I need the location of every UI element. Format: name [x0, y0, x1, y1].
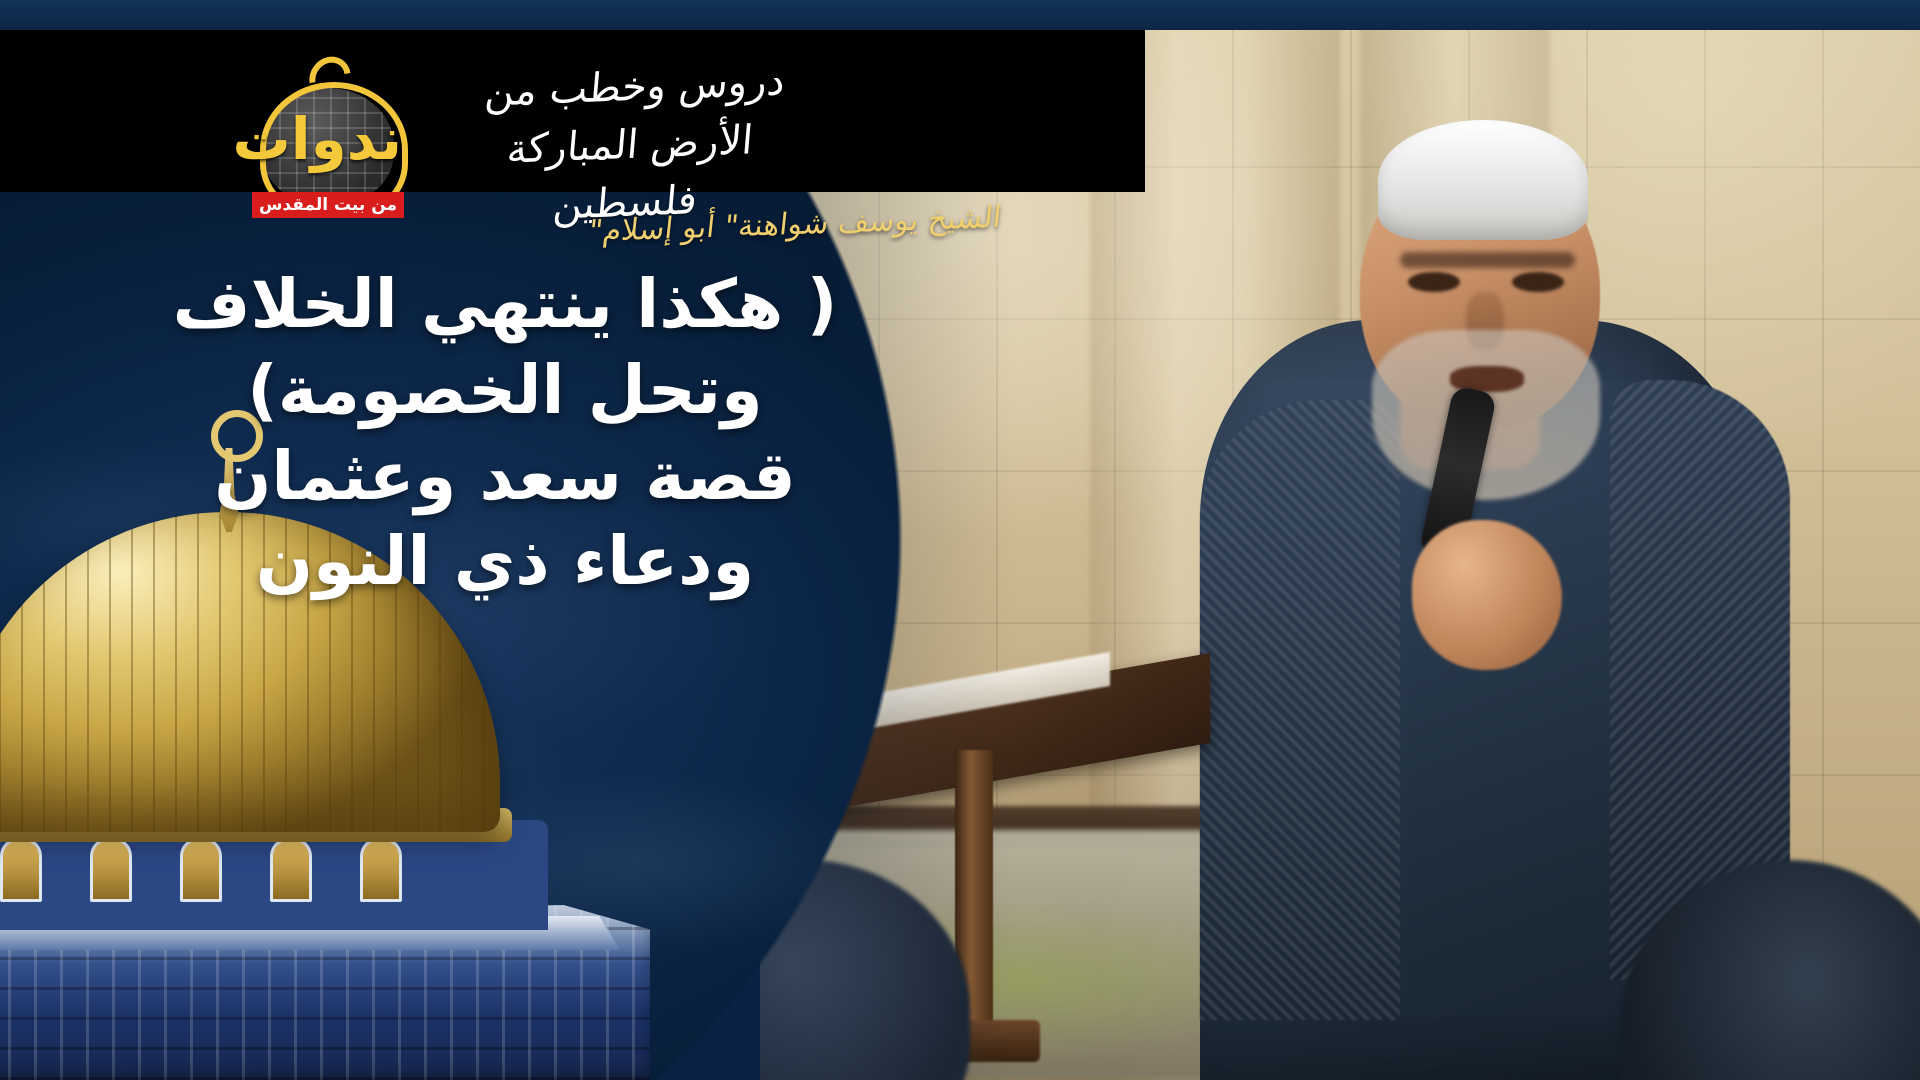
dome-window — [360, 838, 402, 902]
title-line-3: قصة سعد وعثمان — [110, 434, 900, 520]
dome-window — [270, 838, 312, 902]
title-line-1: ( هكذا ينتهي الخلاف — [110, 262, 900, 348]
channel-logo: ندوات من بيت المقدس — [248, 52, 408, 202]
lecture-title: ( هكذا ينتهي الخلاف وتحل الخصومة) قصة سع… — [110, 262, 900, 605]
logo-wordmark: ندوات — [256, 110, 402, 168]
channel-header-bar: ندوات من بيت المقدس دروس وخطب من الأرض ا… — [0, 30, 1145, 192]
speaker-brow — [1400, 252, 1575, 268]
speaker-eye-left — [1408, 272, 1460, 292]
top-navy-strip — [0, 0, 1920, 30]
dome-of-the-rock — [0, 560, 690, 1080]
dome-window — [0, 838, 42, 902]
title-line-4: ودعاء ذي النون — [110, 519, 900, 605]
thumbnail-canvas: ندوات من بيت المقدس دروس وخطب من الأرض ا… — [0, 0, 1920, 1080]
taqiyah-cap — [1378, 120, 1588, 240]
speaker-vest-left — [1200, 400, 1400, 1020]
dome-window — [180, 838, 222, 902]
title-line-2: وتحل الخصومة) — [110, 348, 900, 434]
dome-window — [90, 838, 132, 902]
logo-badge: من بيت المقدس — [252, 192, 404, 218]
speaker-eye-right — [1512, 272, 1564, 292]
speaker-hand — [1412, 520, 1562, 670]
